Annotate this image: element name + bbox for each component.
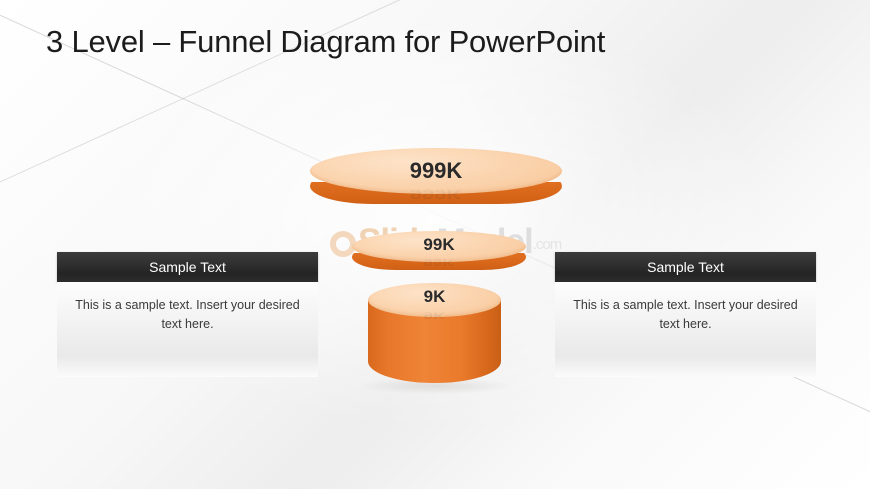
slide-canvas: 3 Level – Funnel Diagram for PowerPoint … bbox=[0, 0, 870, 489]
text-panel-right[interactable]: Sample Text This is a sample text. Inser… bbox=[555, 252, 816, 377]
funnel-level-3-label: 9K bbox=[368, 287, 501, 307]
text-panel-left-header[interactable]: Sample Text bbox=[57, 252, 318, 282]
text-panel-left-body[interactable]: This is a sample text. Insert your desir… bbox=[57, 282, 318, 377]
funnel-level-1-label: 999K bbox=[310, 158, 562, 184]
watermark-tld: .com bbox=[533, 236, 562, 253]
text-panel-right-header[interactable]: Sample Text bbox=[555, 252, 816, 282]
text-panel-right-body[interactable]: This is a sample text. Insert your desir… bbox=[555, 282, 816, 377]
funnel-level-2-disc[interactable]: 99K 99K bbox=[352, 231, 526, 270]
funnel-level-1-label-reflection: 999K bbox=[310, 186, 562, 202]
funnel-level-2-label-reflection: 99K bbox=[352, 256, 526, 268]
funnel-level-3-label-reflection: 9K bbox=[368, 309, 501, 321]
text-panel-left[interactable]: Sample Text This is a sample text. Inser… bbox=[57, 252, 318, 377]
funnel-level-1-disc[interactable]: 999K 999K bbox=[310, 148, 562, 204]
funnel-level-3-cylinder[interactable]: 9K 9K bbox=[368, 283, 501, 387]
page-title: 3 Level – Funnel Diagram for PowerPoint bbox=[46, 24, 605, 60]
funnel-level-2-label: 99K bbox=[352, 235, 526, 255]
